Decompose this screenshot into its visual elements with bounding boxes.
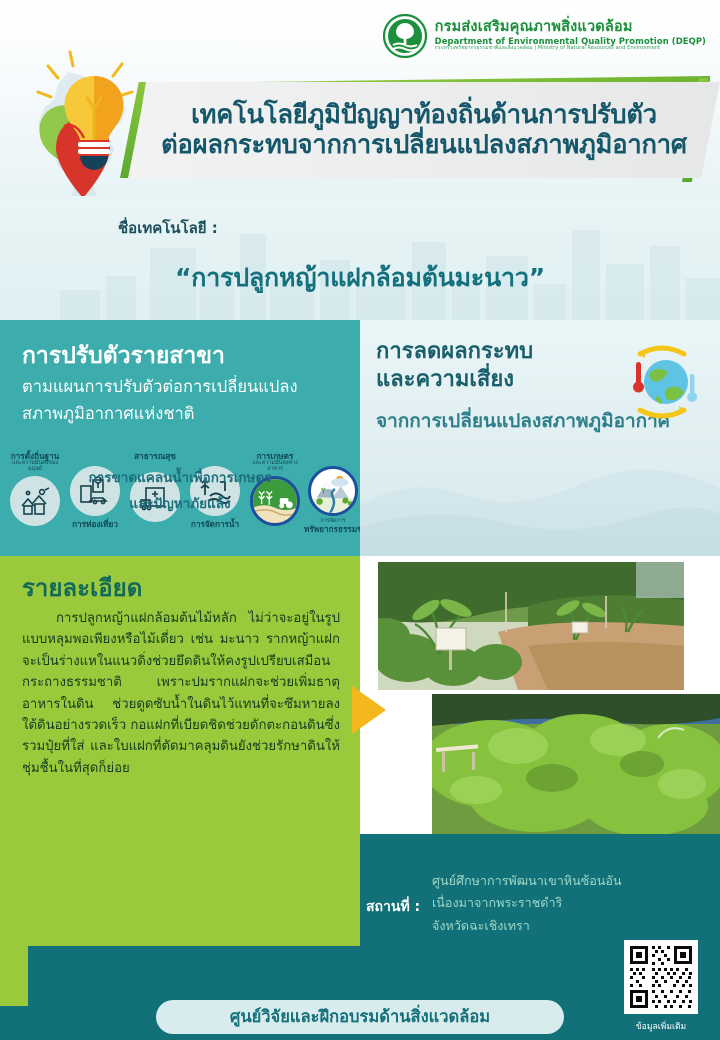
hills-background-icon	[360, 436, 720, 556]
sector-panel-subheading-2: สภาพภูมิอากาศแห่งชาติ	[22, 402, 342, 425]
location-line-2: เนื่องมาจากพระราชดำริ	[432, 892, 622, 914]
details-green-strip	[0, 946, 28, 1006]
impact-heading-line-2: และความเสี่ยง	[376, 366, 533, 394]
sector-label-tourism: การท่องเที่ยว	[66, 520, 124, 529]
poster-title: เทคโนโลยีภูมิปัญญาท้องถิ่นด้านการปรับตัว…	[128, 82, 720, 178]
impact-reduction-panel: การลดผลกระทบ และความเสี่ยง จากการเปลี่ยน…	[360, 320, 720, 556]
qr-caption: ข้อมูลเพิ่มเติม	[624, 1019, 698, 1033]
arrow-right-triangle-icon	[352, 686, 386, 734]
poster-root: กรมส่งเสริมคุณภาพสิ่งแวดล้อม Department …	[0, 0, 720, 1040]
org-ministry: กระทรวงทรัพยากรธรรมชาติและสิ่งแวดล้อม | …	[435, 46, 706, 51]
title-line-1: เทคโนโลยีภูมิปัญญาท้องถิ่นด้านการปรับตัว	[191, 100, 657, 130]
sector-sublabel-natural-resources: ทรัพยากรธรรมชาติ	[304, 525, 362, 534]
deqp-logo-block: กรมส่งเสริมคุณภาพสิ่งแวดล้อม Department …	[383, 14, 706, 58]
location-line-1: ศูนย์ศึกษาการพัฒนาเขาหินซ้อนอัน	[432, 870, 622, 892]
footer-pill: ศูนย์วิจัยและฝึกอบรมด้านสิ่งแวดล้อม	[156, 1000, 564, 1034]
thermometer-hot	[633, 362, 644, 393]
footer-text: ศูนย์วิจัยและฝึกอบรมด้านสิ่งแวดล้อม	[230, 1004, 490, 1030]
sector-panel-heading: การปรับตัวรายสาขา	[22, 342, 342, 371]
location-value: ศูนย์ศึกษาการพัฒนาเขาหินซ้อนอัน เนื่องมา…	[432, 870, 622, 937]
sector-panel-subheading-1: ตามแผนการปรับตัวต่อการเปลี่ยนแปลง	[22, 375, 342, 398]
details-body-text: การปลูกหญ้าแฝกล้อมต้นไม้หลัก ไม่ว่าจะอยู…	[22, 608, 340, 779]
technology-name: “การปลูกหญ้าแฝกล้อมต้นมะนาว”	[0, 258, 720, 298]
title-line-2: ต่อผลกระทบจากการเปลี่ยนแปลงสภาพภูมิอากาศ	[161, 130, 687, 160]
lightbulb-leaf-map-pin-icon	[18, 48, 148, 208]
globe-thermometer-climate-icon	[620, 340, 704, 424]
sector-item-agriculture[interactable]: การเกษตร และความมั่นคงทางอาหาร	[246, 452, 304, 526]
sector-item-settlement[interactable]: การตั้งถิ่นฐาน และความมั่นคงของมนุษย์	[6, 452, 64, 526]
impact-heading-line-1: การลดผลกระทบ	[376, 338, 533, 366]
location-line-3: จังหวัดฉะเชิงเทรา	[432, 915, 622, 937]
org-name-th: กรมส่งเสริมคุณภาพสิ่งแวดล้อม	[435, 20, 706, 35]
qr-code-icon[interactable]	[624, 940, 698, 1014]
deqp-tree-water-seal-icon	[383, 14, 427, 58]
location-label: สถานที่ :	[366, 896, 420, 918]
thermometer-cold	[687, 374, 697, 402]
impact-heading: การลดผลกระทบ และความเสี่ยง	[376, 338, 533, 394]
sector-label-water: การจัดการน้ำ	[186, 520, 244, 529]
details-title: รายละเอียด	[22, 568, 142, 607]
technology-label: ชื่อเทคโนโลยี :	[118, 216, 218, 240]
vetiver-lime-field-photo-2	[432, 694, 720, 834]
sector-label-public-health: สาธารณสุข	[126, 452, 184, 461]
risk-line-1: การขาดแคลนน้ำเพื่อการเกษตร	[0, 466, 360, 488]
risk-line-2: และปัญหาภัยแล้ง	[0, 492, 360, 514]
vetiver-lime-field-photo-1	[378, 562, 684, 690]
